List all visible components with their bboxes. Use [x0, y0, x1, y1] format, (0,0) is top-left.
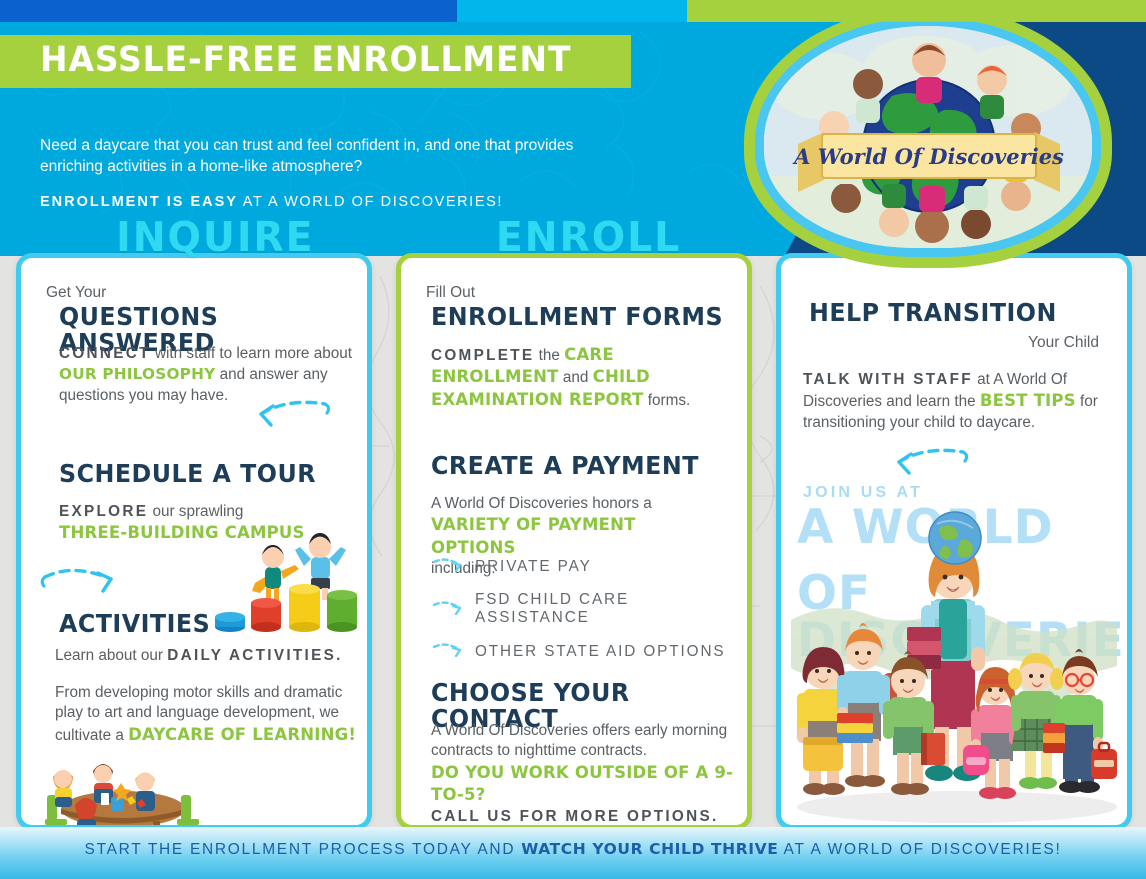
complete-text-a: the	[534, 347, 564, 364]
section-label-inquire: INQUIRE	[116, 213, 314, 261]
logo-inner-ring-cyan: A World Of Discoveries	[755, 17, 1101, 257]
card-enroll-paragraph-1: COMPLETE the CARE ENROLLMENT and CHILD E…	[431, 344, 731, 411]
logo-artwork: A World Of Discoveries	[764, 26, 1092, 248]
top-stripe-bar	[0, 0, 1146, 22]
payment-option-label: PRIVATE PAY	[475, 558, 592, 576]
list-item: OTHER STATE AID OPTIONS	[431, 641, 741, 662]
list-item: PRIVATE PAY	[431, 556, 741, 577]
teacher-and-children-illustration	[781, 525, 1127, 825]
call-us-text: CALL US FOR MORE OPTIONS.	[431, 808, 719, 825]
logo-outer-ring-green: A World Of Discoveries	[744, 6, 1112, 268]
connect-lead: CONNECT	[59, 345, 151, 362]
footer-text-b: AT A WORLD OF DISCOVERIES!	[778, 841, 1061, 858]
dashed-curved-arrow-right-icon	[39, 563, 121, 595]
footer-text-a: START THE ENROLLMENT PROCESS TODAY AND	[85, 841, 522, 858]
hero-subtitle: Need a daycare that you can trust and fe…	[40, 136, 640, 178]
watch-your-child-thrive-highlight: WATCH YOUR CHILD THRIVE	[521, 840, 778, 858]
card-transition[interactable]: HELP TRANSITION Your Child TALK WITH STA…	[776, 253, 1132, 830]
dashed-curved-arrow-left-icon	[253, 396, 333, 428]
hero-cta-bold: ENROLLMENT IS EASY	[40, 194, 238, 210]
card-inquire-paragraph-4: From developing motor skills and dramati…	[55, 683, 367, 746]
card-enroll-heading-2: CREATE A PAYMENT	[431, 453, 699, 479]
explore-lead: EXPLORE	[59, 503, 148, 520]
infographic-page: 3 A B	[0, 0, 1146, 879]
card-enroll-paragraph-3: A World Of Discoveries offers early morn…	[431, 721, 741, 827]
stripe-blue	[0, 0, 457, 22]
page-title: HASSLE-FREE ENROLLMENT	[40, 43, 571, 78]
card-enroll-eyebrow: Fill Out	[426, 284, 475, 302]
hero-title-banner: HASSLE-FREE ENROLLMENT	[0, 35, 631, 88]
explore-text: our sprawling	[148, 503, 243, 520]
daycare-of-learning-highlight: DAYCARE OF LEARNING!	[128, 725, 356, 744]
dashed-bullet-arrow-icon	[431, 641, 465, 662]
work-outside-9-to-5-highlight: DO YOU WORK OUTSIDE OF A 9-TO-5?	[431, 763, 733, 804]
daily-activities-text: Learn about our	[55, 647, 167, 664]
footer-text: START THE ENROLLMENT PROCESS TODAY AND W…	[0, 840, 1146, 859]
hero-cta-rest: AT A WORLD OF DISCOVERIES!	[238, 194, 503, 210]
list-item: FSD CHILD CARE ASSISTANCE	[431, 591, 741, 627]
contact-text-a: A World Of Discoveries offers early morn…	[431, 722, 727, 759]
complete-text-b: and	[559, 369, 593, 386]
stripe-cyan	[457, 0, 687, 22]
our-philosophy-highlight: OUR PHILOSOPHY	[59, 365, 215, 383]
card-transition-subheading: Your Child	[809, 334, 1099, 352]
section-label-enroll: ENROLL	[496, 213, 681, 261]
talk-with-staff-lead: TALK WITH STAFF	[803, 371, 973, 388]
card-inquire[interactable]: Get Your QUESTIONS ANSWERED CONNECT with…	[16, 253, 372, 830]
complete-lead: COMPLETE	[431, 347, 534, 364]
card-inquire-eyebrow: Get Your	[46, 284, 106, 302]
logo-banner-text: A World Of Discoveries	[792, 144, 1064, 169]
globe-icon	[927, 510, 983, 566]
card-inquire-heading-2: SCHEDULE A TOUR	[59, 461, 316, 487]
card-enroll[interactable]: Fill Out ENROLLMENT FORMS COMPLETE the C…	[396, 253, 752, 830]
dashed-curved-arrow-left-icon	[891, 444, 971, 476]
footer-banner: START THE ENROLLMENT PROCESS TODAY AND W…	[0, 827, 1146, 879]
hero-cta-line: ENROLLMENT IS EASY AT A WORLD OF DISCOVE…	[40, 194, 503, 210]
card-transition-heading: HELP TRANSITION	[809, 300, 1057, 326]
payment-text-a: A World Of Discoveries honors a	[431, 495, 652, 512]
variety-of-payment-options-highlight: VARIETY OF PAYMENT OPTIONS	[431, 515, 636, 556]
best-tips-highlight: BEST TIPS	[980, 391, 1076, 410]
logo-badge: A World Of Discoveries	[744, 6, 1112, 268]
connect-text-a: with staff to learn more about	[151, 345, 352, 362]
a-world-of-discoveries-logo: A World Of Discoveries	[764, 26, 1092, 248]
payment-options-list: PRIVATE PAY FSD CHILD CARE ASSISTANCE OT…	[431, 556, 741, 676]
dashed-bullet-arrow-icon	[431, 556, 465, 577]
dashed-bullet-arrow-icon	[431, 599, 465, 620]
payment-option-label: OTHER STATE AID OPTIONS	[475, 643, 726, 661]
card-inquire-heading-3: ACTIVITIES	[59, 611, 210, 637]
card-transition-paragraph-1: TALK WITH STAFF at A World Of Discoverie…	[803, 370, 1115, 433]
daily-activities-strong: DAILY ACTIVITIES.	[167, 647, 342, 664]
card-enroll-heading: ENROLLMENT FORMS	[431, 304, 723, 330]
card-inquire-paragraph-3: Learn about our DAILY ACTIVITIES.	[55, 646, 365, 666]
kids-on-blocks-illustration	[211, 533, 371, 633]
stripe-green	[687, 0, 1146, 22]
kids-at-craft-table-illustration	[31, 753, 211, 830]
payment-option-label: FSD CHILD CARE ASSISTANCE	[475, 591, 741, 627]
complete-text-c: forms.	[644, 392, 691, 409]
